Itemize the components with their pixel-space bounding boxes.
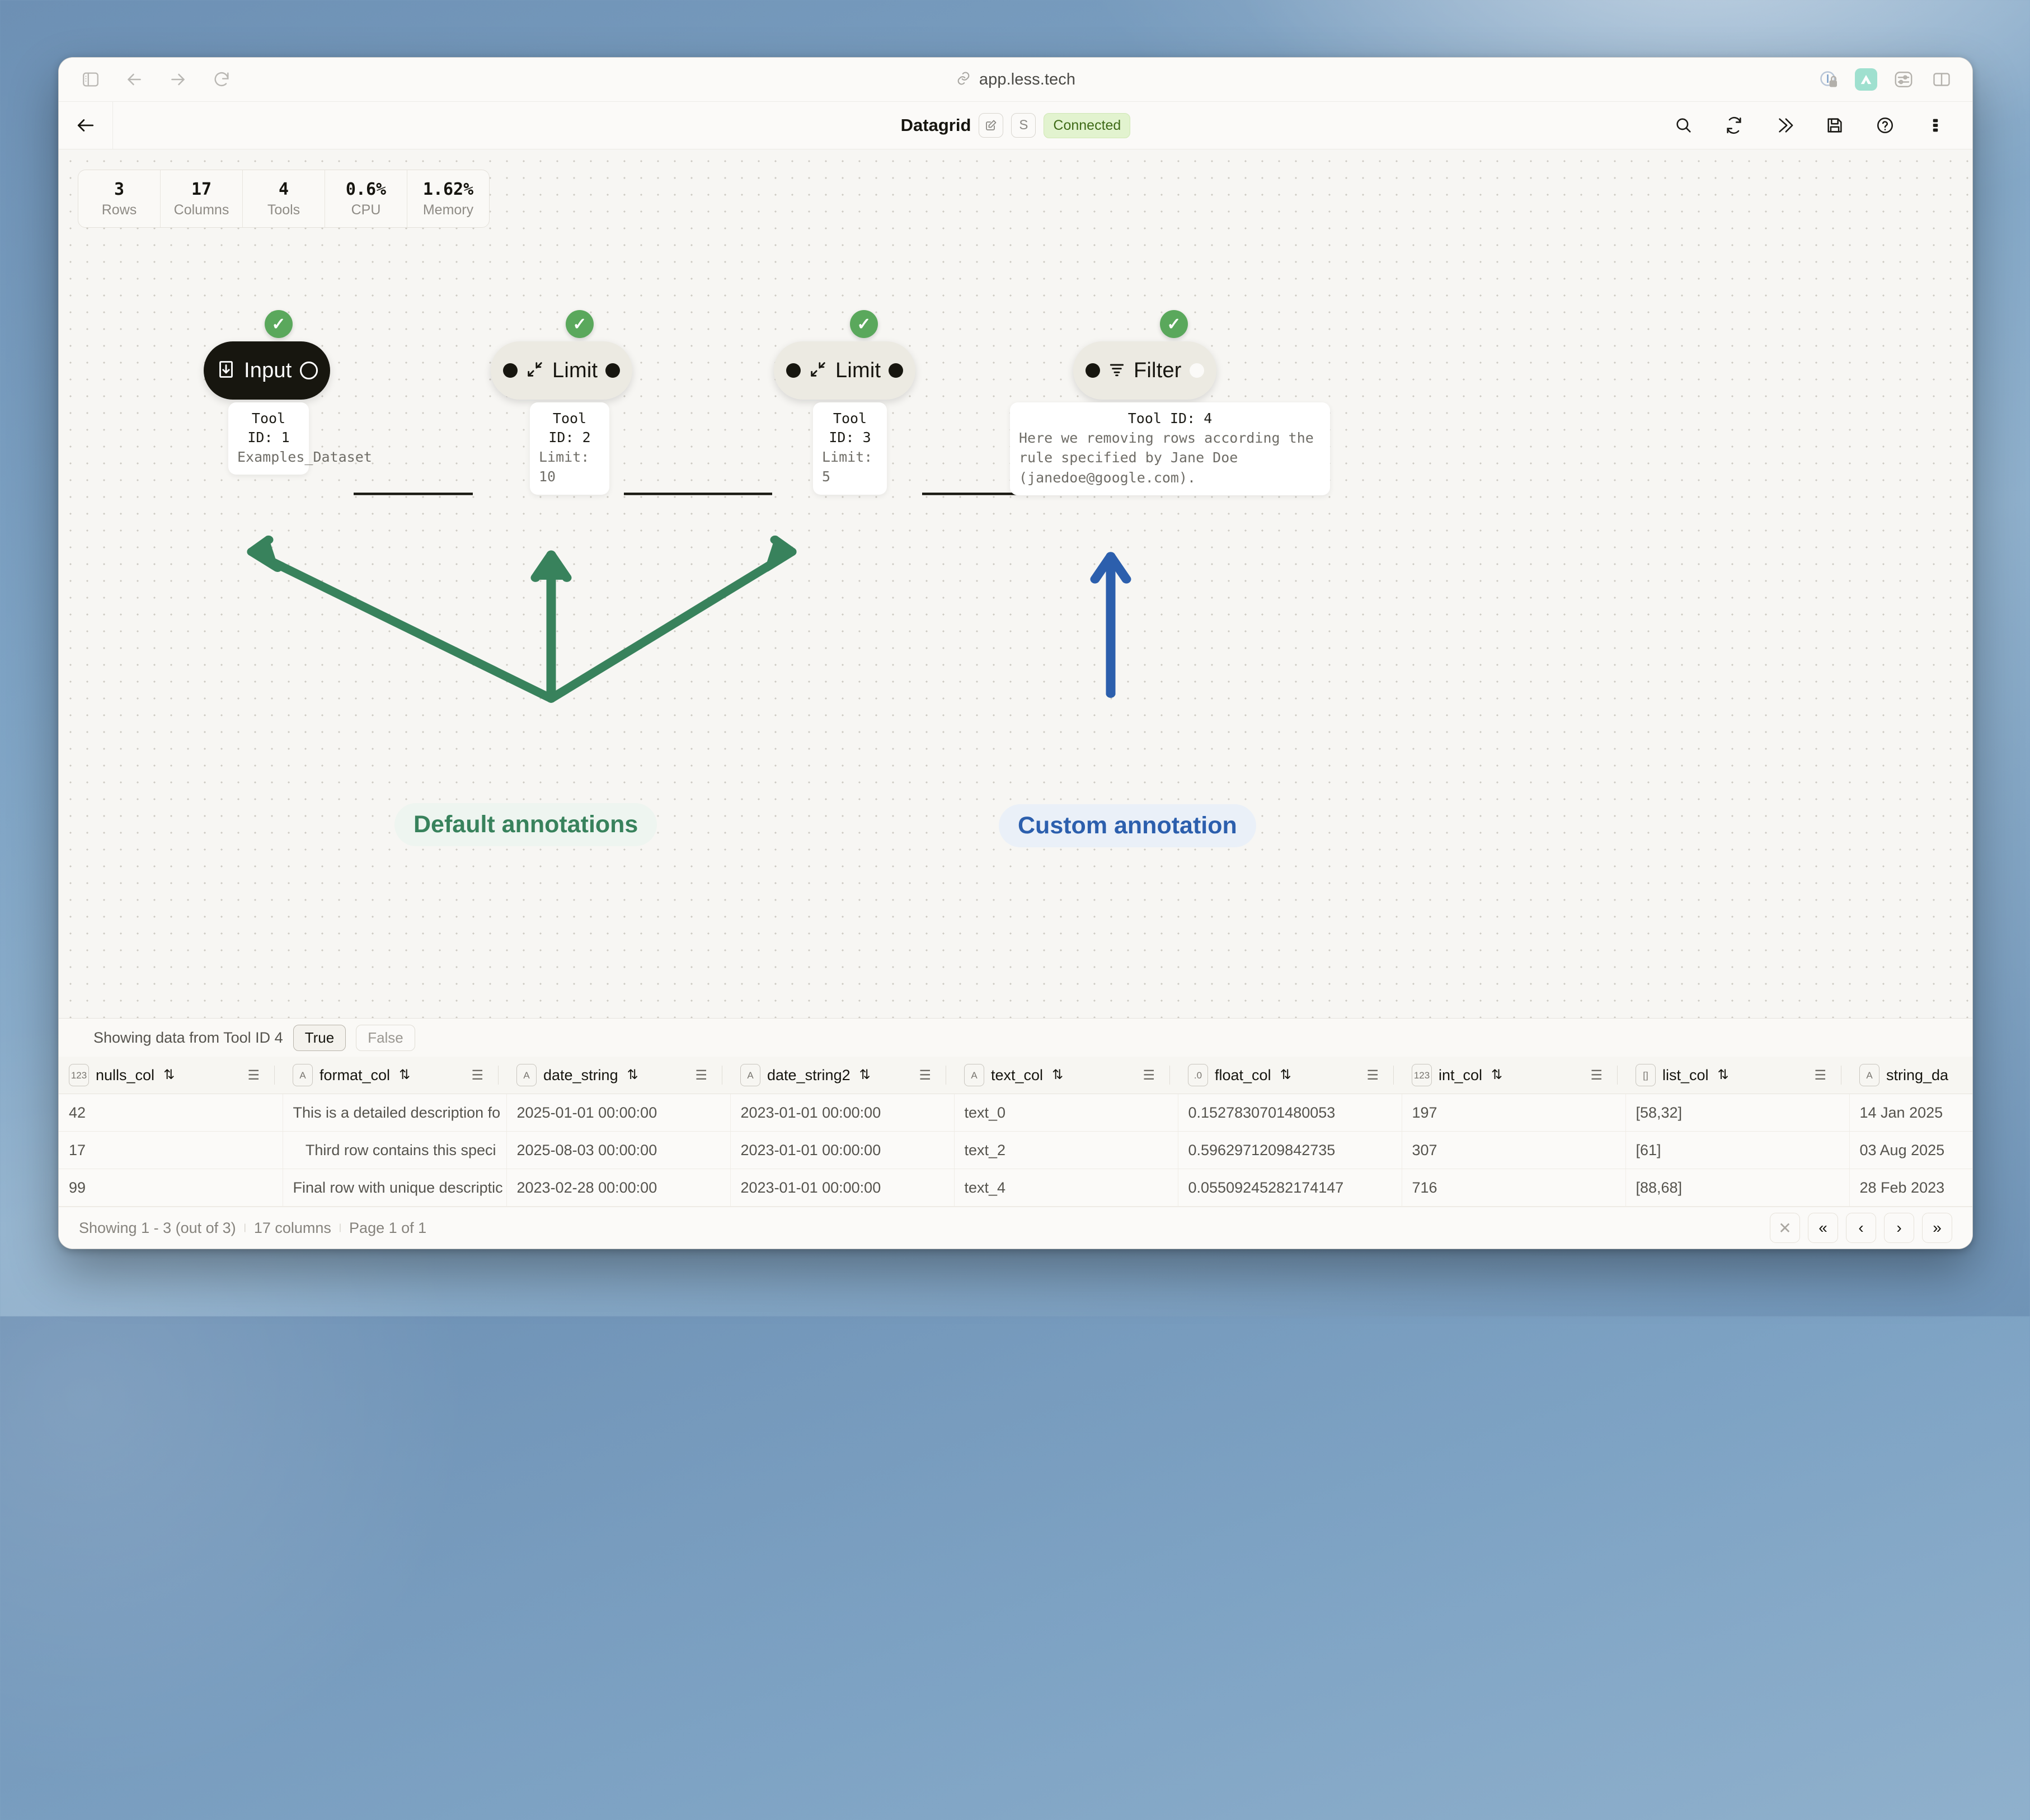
node-status-check-4: ✓ — [1160, 310, 1188, 338]
annotation-title: Tool ID: 2 — [539, 409, 600, 447]
column-name: float_col — [1215, 1067, 1271, 1084]
type-number-icon: 123 — [1412, 1064, 1432, 1086]
footer-showing: Showing 1 - 3 (out of 3) — [79, 1219, 236, 1237]
cell-list_col: [88,68] — [1625, 1169, 1849, 1207]
column-name: date_string — [543, 1067, 618, 1084]
node-filter[interactable]: Filter — [1073, 341, 1216, 400]
column-header-date_string2[interactable]: A date_string2 ⇅ ☰ — [730, 1057, 954, 1094]
sort-chevrons-icon[interactable]: ⇅ — [627, 1068, 638, 1082]
node-label: Limit — [835, 359, 881, 383]
node-status-check-3: ✓ — [850, 310, 878, 338]
table-row[interactable]: 99 Final row with unique descriptic 2023… — [59, 1169, 1972, 1207]
node-annotation-3[interactable]: Tool ID: 3 Limit: 5 — [813, 402, 887, 495]
column-header-text_col[interactable]: A text_col ⇅ ☰ — [954, 1057, 1178, 1094]
cell-format_col: Third row contains this speci — [283, 1132, 506, 1169]
toggle-true-button[interactable]: True — [293, 1025, 346, 1051]
sliders-icon[interactable] — [1892, 68, 1915, 91]
graph-edges — [59, 149, 1972, 1018]
browser-toolbar: app.less.tech — [59, 58, 1972, 102]
link-icon — [956, 71, 971, 89]
node-label: Limit — [552, 359, 598, 383]
cell-float_col: 0.05509245282174147 — [1178, 1169, 1402, 1207]
column-header-date_string[interactable]: A date_string ⇅ ☰ — [506, 1057, 730, 1094]
column-header-list_col[interactable]: [] list_col ⇅ ☰ — [1625, 1057, 1849, 1094]
cell-format_col: This is a detailed description fo — [283, 1094, 506, 1132]
type-text-icon: A — [293, 1064, 313, 1086]
filter-icon[interactable]: ☰ — [471, 1067, 483, 1083]
type-text-icon: A — [516, 1064, 537, 1086]
table-header-row: 123 nulls_col ⇅ ☰ A format_col ⇅ ☰ A dat… — [59, 1057, 1972, 1094]
data-table: 123 nulls_col ⇅ ☰ A format_col ⇅ ☰ A dat… — [59, 1057, 1972, 1207]
last-page-icon[interactable]: » — [1922, 1213, 1952, 1243]
flow-canvas[interactable]: 3 Rows 17 Columns 4 Tools 0.6% CPU 1.62%… — [59, 149, 1972, 1018]
cell-date_string2: 2023-01-01 00:00:00 — [730, 1094, 954, 1132]
type-text-icon: A — [1859, 1064, 1879, 1086]
caption-custom-annotation: Custom annotation — [999, 804, 1256, 847]
annotation-body: Limit: 5 — [822, 447, 878, 487]
column-name: date_string2 — [767, 1067, 850, 1084]
cell-nulls_col: 42 — [59, 1094, 283, 1132]
edit-note-icon[interactable] — [979, 113, 1003, 138]
footer-divider: | — [339, 1223, 341, 1233]
first-page-icon[interactable]: « — [1808, 1213, 1838, 1243]
node-input-port[interactable] — [1086, 363, 1100, 378]
cell-nulls_col: 17 — [59, 1132, 283, 1169]
limit-shrink-icon — [525, 360, 544, 382]
footer-page: Page 1 of 1 — [349, 1219, 426, 1237]
close-icon[interactable]: ✕ — [1770, 1213, 1800, 1243]
cell-nulls_col: 99 — [59, 1169, 283, 1207]
type-text-icon: A — [740, 1064, 760, 1086]
cell-float_col: 0.5962971209842735 — [1178, 1132, 1402, 1169]
node-output-port[interactable] — [300, 362, 318, 379]
sort-chevrons-icon[interactable]: ⇅ — [1280, 1068, 1291, 1082]
node-status-check-1: ✓ — [265, 310, 293, 338]
reload-icon[interactable] — [209, 67, 234, 92]
column-name: format_col — [319, 1067, 390, 1084]
filter-icon[interactable]: ☰ — [919, 1067, 931, 1083]
annotation-body: Examples_Dataset — [237, 447, 300, 467]
type-text-icon: A — [964, 1064, 984, 1086]
tab-overview-icon[interactable] — [1930, 68, 1953, 91]
caption-default-annotations: Default annotations — [394, 803, 657, 846]
sort-chevrons-icon[interactable]: ⇅ — [163, 1068, 175, 1082]
data-panel-footer: Showing 1 - 3 (out of 3) | 17 columns | … — [59, 1207, 1972, 1249]
back-arrow-icon[interactable] — [121, 67, 147, 92]
input-download-icon — [216, 359, 236, 382]
node-status-check-2: ✓ — [566, 310, 594, 338]
vpn-icon[interactable] — [1855, 68, 1877, 91]
footer-divider: | — [244, 1223, 246, 1233]
sidebar-toggle-icon[interactable] — [78, 67, 104, 92]
browser-window: app.less.tech Datagrid S — [58, 57, 1973, 1249]
cell-date_string2: 2023-01-01 00:00:00 — [730, 1132, 954, 1169]
type-number-icon: 123 — [69, 1064, 89, 1086]
column-header-nulls_col[interactable]: 123 nulls_col ⇅ ☰ — [59, 1057, 283, 1094]
node-output-port[interactable] — [605, 363, 620, 378]
node-input-port[interactable] — [786, 363, 801, 378]
filter-icon — [1108, 360, 1126, 381]
cell-list_col: [61] — [1625, 1132, 1849, 1169]
cell-int_col: 307 — [1402, 1132, 1625, 1169]
column-header-float_col[interactable]: .0 float_col ⇅ ☰ — [1178, 1057, 1402, 1094]
annotation-body: Here we removing rows according the rule… — [1019, 428, 1321, 488]
next-page-icon[interactable]: › — [1884, 1213, 1914, 1243]
sort-chevrons-icon[interactable]: ⇅ — [399, 1068, 410, 1082]
sort-chevrons-icon[interactable]: ⇅ — [1718, 1068, 1729, 1082]
page-title: Datagrid — [901, 115, 971, 135]
filter-icon[interactable]: ☰ — [247, 1067, 260, 1083]
node-label: Input — [244, 359, 292, 383]
filter-icon[interactable]: ☰ — [1590, 1067, 1603, 1083]
column-name: int_col — [1439, 1067, 1482, 1084]
cell-string_da: 14 Jan 2025 — [1849, 1094, 1972, 1132]
cell-date_string: 2023-02-28 00:00:00 — [506, 1169, 730, 1207]
cell-text_col: text_4 — [954, 1169, 1178, 1207]
annotation-title: Tool ID: 1 — [237, 409, 300, 447]
cell-format_col: Final row with unique descriptic — [283, 1169, 506, 1207]
schema-badge-button[interactable]: S — [1011, 113, 1036, 138]
table-row[interactable]: 42 This is a detailed description fo 202… — [59, 1094, 1972, 1132]
address-bar-url[interactable]: app.less.tech — [979, 71, 1075, 89]
sort-chevrons-icon[interactable]: ⇅ — [1491, 1068, 1502, 1082]
cell-string_da: 28 Feb 2023 — [1849, 1169, 1972, 1207]
column-name: nulls_col — [96, 1067, 154, 1084]
app-header: Datagrid S Connected — [59, 102, 1972, 149]
cell-int_col: 716 — [1402, 1169, 1625, 1207]
node-output-port[interactable] — [1190, 363, 1204, 378]
node-input-port[interactable] — [503, 363, 518, 378]
footer-columns: 17 columns — [254, 1219, 331, 1237]
cell-list_col: [58,32] — [1625, 1094, 1849, 1132]
annotation-title: Tool ID: 4 — [1019, 409, 1321, 428]
node-limit-2[interactable]: Limit — [774, 341, 915, 400]
annotation-title: Tool ID: 3 — [822, 409, 878, 447]
column-header-string_da[interactable]: A string_da — [1849, 1057, 1972, 1094]
cell-text_col: text_0 — [954, 1094, 1178, 1132]
sort-chevrons-icon[interactable]: ⇅ — [1052, 1068, 1063, 1082]
column-header-int_col[interactable]: 123 int_col ⇅ ☰ — [1402, 1057, 1625, 1094]
limit-shrink-icon — [809, 360, 828, 382]
node-annotation-1[interactable]: Tool ID: 1 Examples_Dataset — [228, 402, 309, 475]
cell-float_col: 0.1527830701480053 — [1178, 1094, 1402, 1132]
filter-icon[interactable]: ☰ — [1814, 1067, 1826, 1083]
privacy-shield-icon[interactable] — [1817, 68, 1840, 91]
table-row[interactable]: 17 Third row contains this speci 2025-08… — [59, 1132, 1972, 1169]
node-annotation-2[interactable]: Tool ID: 2 Limit: 10 — [530, 402, 609, 495]
filter-icon[interactable]: ☰ — [1366, 1067, 1379, 1083]
cell-text_col: text_2 — [954, 1132, 1178, 1169]
column-name: string_da — [1886, 1067, 1948, 1084]
forward-arrow-icon[interactable] — [165, 67, 191, 92]
cell-int_col: 197 — [1402, 1094, 1625, 1132]
node-output-port[interactable] — [889, 363, 903, 378]
status-badge: Connected — [1044, 113, 1130, 138]
toggle-false-button[interactable]: False — [356, 1025, 415, 1051]
data-panel-header: Showing data from Tool ID 4 True False — [59, 1019, 1972, 1057]
node-input[interactable]: Input — [204, 341, 330, 400]
column-header-format_col[interactable]: A format_col ⇅ ☰ — [283, 1057, 506, 1094]
cell-date_string: 2025-08-03 00:00:00 — [506, 1132, 730, 1169]
prev-page-icon[interactable]: ‹ — [1846, 1213, 1876, 1243]
cell-string_da: 03 Aug 2025 — [1849, 1132, 1972, 1169]
node-label: Filter — [1134, 359, 1182, 383]
cell-date_string2: 2023-01-01 00:00:00 — [730, 1169, 954, 1207]
data-source-label: Showing data from Tool ID 4 — [93, 1029, 283, 1047]
type-list-icon: [] — [1636, 1064, 1656, 1086]
column-name: list_col — [1662, 1067, 1709, 1084]
column-name: text_col — [991, 1067, 1043, 1084]
data-panel: Showing data from Tool ID 4 True False 1… — [59, 1018, 1972, 1249]
node-limit-1[interactable]: Limit — [491, 341, 632, 400]
filter-icon[interactable]: ☰ — [695, 1067, 707, 1083]
sort-chevrons-icon[interactable]: ⇅ — [859, 1068, 871, 1082]
node-annotation-4[interactable]: Tool ID: 4 Here we removing rows accordi… — [1010, 402, 1330, 495]
filter-icon[interactable]: ☰ — [1143, 1067, 1155, 1083]
cell-date_string: 2025-01-01 00:00:00 — [506, 1094, 730, 1132]
annotation-body: Limit: 10 — [539, 447, 600, 487]
type-float-icon: .0 — [1188, 1064, 1208, 1086]
